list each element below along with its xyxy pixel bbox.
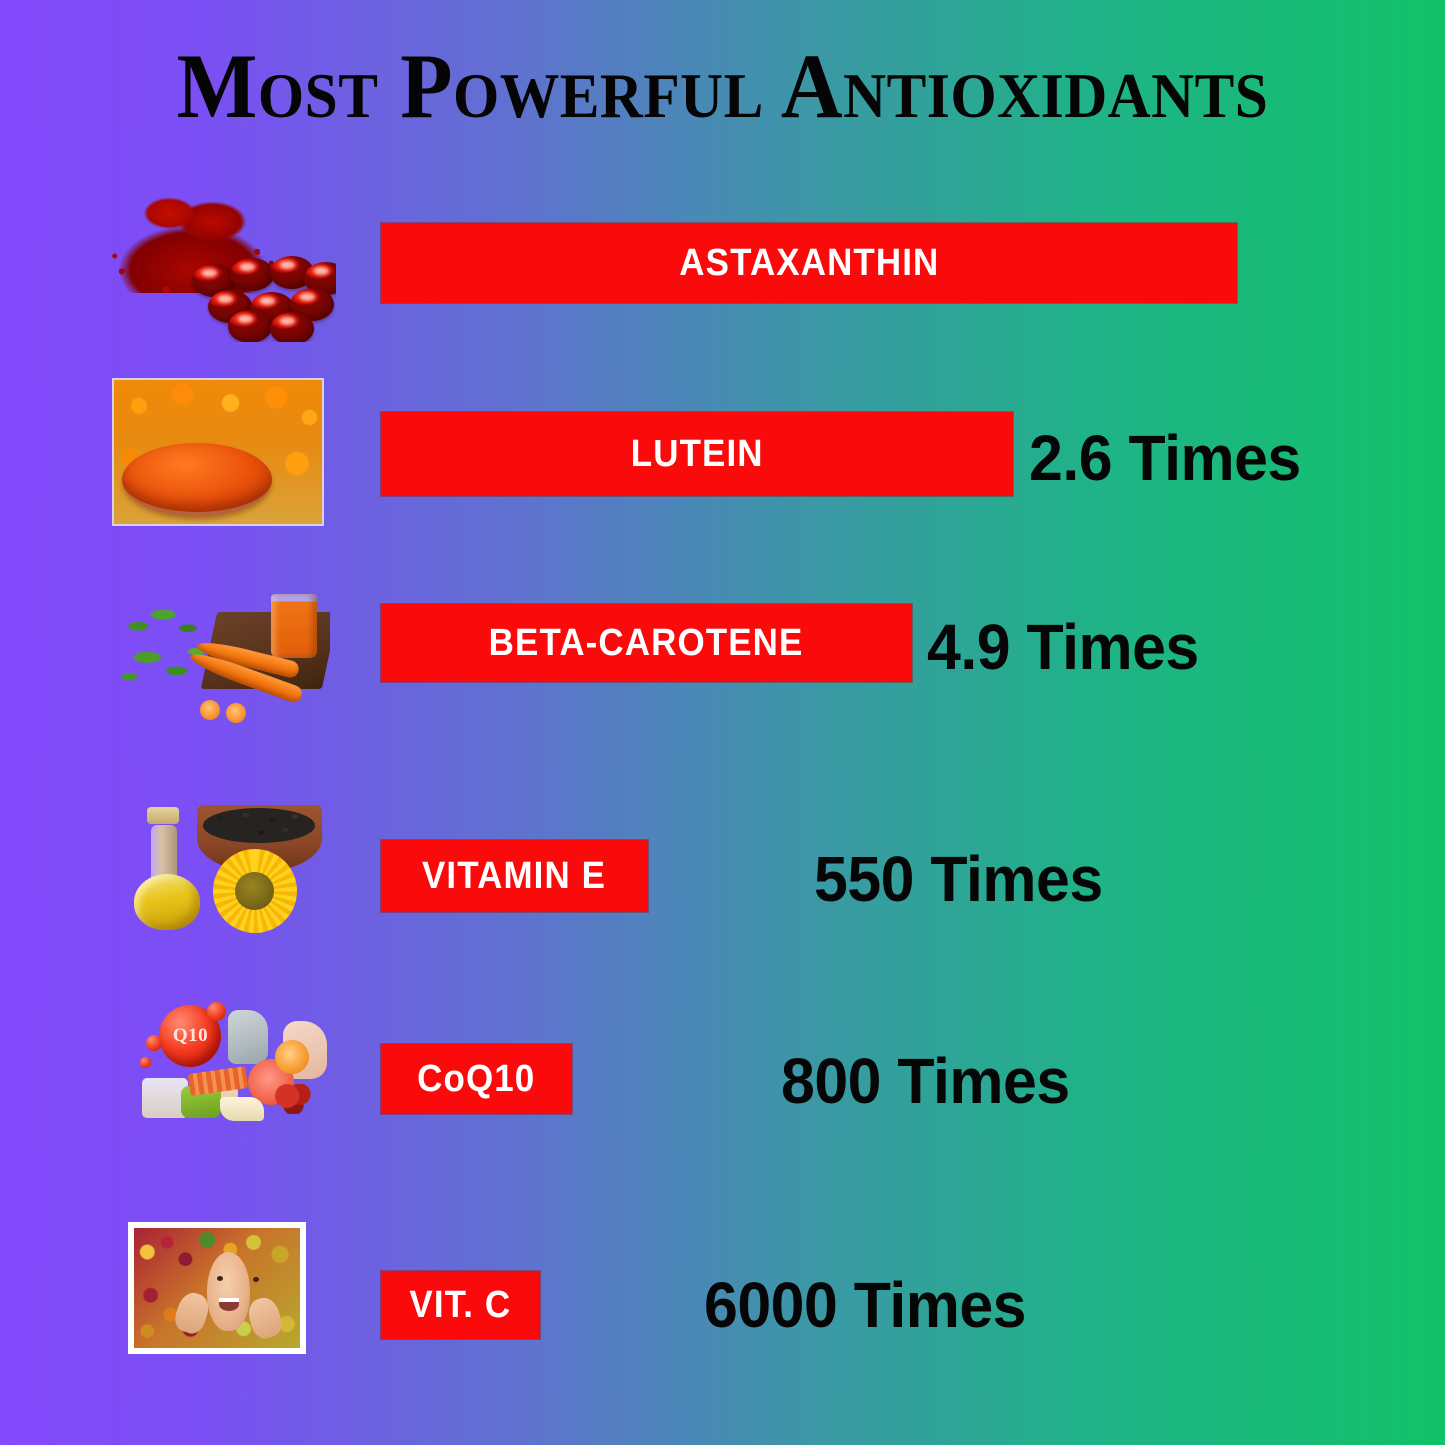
softgel-capsule-icon — [228, 310, 272, 342]
smiling-woman-face-icon — [207, 1252, 250, 1331]
softgel-capsule-icon — [230, 258, 274, 291]
q10-bubble-label: Q10 — [173, 1025, 208, 1047]
bar-label-beta-carotene: BETA-CAROTENE — [489, 622, 804, 665]
cheese-slices-icon — [220, 1097, 264, 1121]
page-title: Most Powerful Antioxidants — [51, 40, 1395, 132]
q10-mini-bubble-icon — [207, 1002, 226, 1021]
oil-carafe-neck-icon — [151, 825, 177, 881]
infographic-poster: Most Powerful Antioxidants ASTAXANTHIN — [0, 0, 1445, 1445]
carrot-slice-icon — [226, 703, 246, 723]
meat-strips-icon — [188, 1066, 248, 1096]
photo-frame — [128, 1222, 306, 1354]
value-coq10: 800 Times — [781, 1044, 1070, 1118]
coq10-food-sources-image: Q10 — [134, 994, 330, 1130]
bar-vitamin-e[interactable]: VITAMIN E — [381, 840, 648, 912]
fruits-and-smiling-woman-image — [128, 1222, 306, 1354]
bar-label-astaxanthin: ASTAXANTHIN — [679, 242, 939, 285]
fish-fillet-icon — [228, 1010, 268, 1064]
berries-icon — [275, 1084, 315, 1114]
carrots-and-carrot-juice-image — [114, 576, 330, 724]
q10-mini-bubble-icon — [146, 1035, 162, 1051]
value-vitamin-c: 6000 Times — [704, 1268, 1026, 1342]
bar-label-vitamin-c: VIT. C — [410, 1284, 512, 1327]
sunflower-icon — [213, 849, 297, 933]
oil-carafe-icon — [134, 874, 200, 930]
bar-astaxanthin[interactable]: ASTAXANTHIN — [381, 223, 1237, 303]
cork-stopper-icon — [147, 807, 179, 824]
carrot-slice-icon — [200, 700, 220, 720]
marigold-flowers-lutein-image — [112, 378, 324, 526]
astaxanthin-powder-and-softgels-image — [104, 182, 336, 342]
bar-vitamin-c[interactable]: VIT. C — [381, 1271, 540, 1339]
bar-beta-carotene[interactable]: BETA-CAROTENE — [381, 604, 912, 682]
bar-label-coq10: CoQ10 — [417, 1058, 535, 1101]
value-vitamin-e: 550 Times — [814, 842, 1103, 916]
bar-lutein[interactable]: LUTEIN — [381, 412, 1013, 496]
carrot-juice-glass-icon — [271, 594, 317, 658]
bar-label-lutein: LUTEIN — [631, 433, 764, 476]
sunflower-oil-and-seeds-image — [122, 784, 330, 936]
value-beta-carotene: 4.9 Times — [927, 610, 1199, 684]
q10-mini-bubble-icon — [140, 1057, 151, 1068]
softgel-capsule-icon — [270, 312, 314, 342]
bar-label-vitamin-e: VITAMIN E — [422, 855, 606, 898]
value-lutein: 2.6 Times — [1029, 421, 1301, 495]
bar-coq10[interactable]: CoQ10 — [381, 1044, 572, 1114]
hand-icon — [245, 1294, 285, 1341]
fruit-collage-icon — [134, 1228, 300, 1348]
